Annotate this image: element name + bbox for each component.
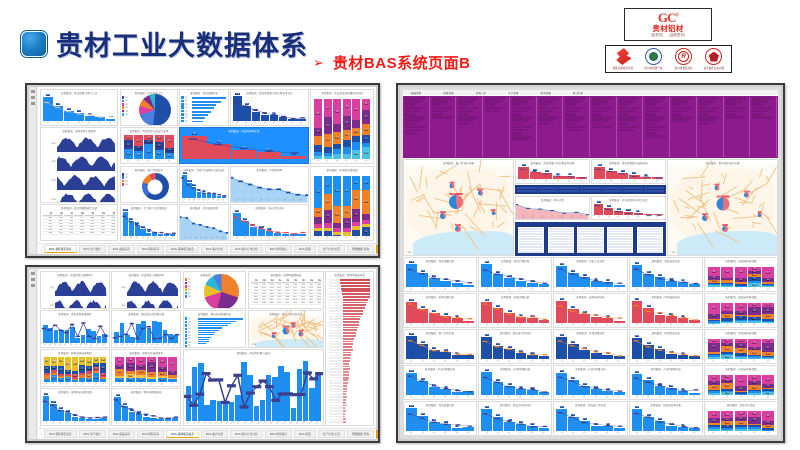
- hbar[interactable]: [192, 111, 211, 113]
- dashboard-tile[interactable]: 贵材集团 - 供应商订单分析372225170104681月2月3月4月5月6月: [478, 329, 552, 364]
- nav-item[interactable]: [405, 132, 415, 135]
- menu-item[interactable]: 采购入库: [476, 91, 486, 95]
- dashboard-tile[interactable]: 贵材集团 - 客户订单分析381246155117681月2月3月4月5月6月: [403, 329, 477, 364]
- stack-segment[interactable]: 269: [44, 357, 50, 365]
- stacked-column[interactable]: 384128131: [708, 267, 720, 287]
- stack-segment[interactable]: 316: [100, 363, 106, 373]
- nav-item[interactable]: [485, 110, 501, 113]
- stacked-column[interactable]: 319150137: [735, 303, 747, 323]
- stack-segment[interactable]: 167: [352, 209, 360, 222]
- red-bar[interactable]: [343, 341, 354, 343]
- dashboard-tile[interactable]: 贵材集团 - 原料成本结构堆积2692372831162322692801194…: [40, 349, 110, 387]
- pie-chart[interactable]: [204, 274, 240, 308]
- stack-segment[interactable]: 187: [362, 176, 370, 190]
- stack-segment[interactable]: 384: [708, 267, 720, 277]
- pie-chart[interactable]: [139, 94, 171, 126]
- dashboard-tile[interactable]: 贵材集团 - 主力客户订单量排名369239164104521月2月3月4月5月…: [120, 204, 178, 241]
- bi-tab[interactable]: BAS-财务指标: [265, 245, 292, 253]
- stacked-column[interactable]: 282118128: [352, 99, 360, 159]
- stack-segment[interactable]: [352, 120, 360, 127]
- red-bar[interactable]: [343, 343, 353, 345]
- nav-item[interactable]: [752, 116, 772, 119]
- red-bar[interactable]: [343, 346, 353, 348]
- map-tile-left[interactable]: 贵材集团 - 客户区域分布图 5.37万1.2万9千1.1万8千4千© 地图: [403, 159, 514, 256]
- dashboard-tile[interactable]: 贵材集团 - 月度销售额与结构分析365246171115701月2月3月4月5…: [591, 159, 665, 184]
- bi-tab[interactable]: 明细数据-查询: [347, 245, 374, 253]
- map-marker[interactable]: 1.1万: [477, 188, 483, 195]
- red-bar[interactable]: [343, 366, 350, 368]
- table-row[interactable]: 9466241910524390446119824334: [43, 232, 115, 235]
- stack-segment[interactable]: 453: [735, 375, 747, 386]
- marker-pie[interactable]: [716, 197, 729, 210]
- map-marker[interactable]: 3千: [757, 211, 762, 217]
- dashboard-tile[interactable]: 贵材集团 - 产能利用率1月2月3月4月5月6月7月8月9月: [230, 166, 308, 203]
- stacked-column[interactable]: 188316142: [100, 357, 106, 382]
- stack-segment[interactable]: 112: [314, 128, 322, 136]
- menu-item[interactable]: 统计分析: [573, 91, 583, 95]
- red-bar[interactable]: [343, 332, 356, 334]
- red-bar[interactable]: [343, 368, 350, 370]
- stacked-column[interactable]: 330134134134: [158, 357, 167, 382]
- bi-tab[interactable]: BAS-成品库存: [108, 430, 135, 438]
- stack-segment[interactable]: 146: [362, 99, 370, 110]
- nav-column[interactable]: [404, 97, 430, 157]
- bi-tab[interactable]: BAS-生产统计: [79, 430, 106, 438]
- dashboard-tile[interactable]: 贵材集团 - 产品结构占比类1类2类3类4类5类6: [120, 89, 178, 126]
- dashboard-tile[interactable]: 贵材集团 - 产品C销量分析378250154102611月2月3月4月5月6月: [553, 365, 627, 400]
- dashboard-tile[interactable]: 贵材集团 - 月度采购金额趋势1月2月3月4月5月6月7月8月9月10月11月1…: [40, 310, 110, 348]
- stack-segment[interactable]: 113: [362, 135, 370, 144]
- dashboard-tile[interactable]: 贵材集团 - 品类结构堆积图38412813144544816116311614…: [704, 257, 778, 292]
- red-bar[interactable]: [341, 288, 370, 290]
- dashboard-tile[interactable]: 贵材集团 - 各品类月度销量堆积分析3851122432201753331672…: [310, 89, 374, 164]
- dashboard-tile[interactable]: 贵材集团 - 渠道结构堆积图43520234216331915013716230…: [704, 293, 778, 328]
- hbar[interactable]: [198, 321, 236, 322]
- nav-item[interactable]: [672, 119, 688, 122]
- stack-segment[interactable]: 205: [324, 194, 332, 209]
- stack-segment[interactable]: 287: [708, 411, 720, 418]
- stack-segment[interactable]: 272: [155, 142, 164, 150]
- stack-segment[interactable]: [352, 142, 360, 150]
- stack-segment[interactable]: 130: [343, 130, 351, 140]
- stack-segment[interactable]: 220: [324, 117, 332, 134]
- nav-column[interactable]: [431, 97, 457, 157]
- marker-pie[interactable]: [440, 213, 446, 219]
- stacked-column[interactable]: 244155194140: [136, 357, 145, 382]
- red-bar[interactable]: [343, 410, 346, 412]
- hbar[interactable]: [192, 97, 226, 99]
- dashboard-tile[interactable]: 贵材集团 - 区域结构堆积图15637016411724015417218419…: [704, 329, 778, 364]
- red-bar[interactable]: [343, 296, 370, 298]
- marker-pie[interactable]: [702, 215, 708, 221]
- red-bar[interactable]: [343, 413, 346, 415]
- sparkline[interactable]: [57, 172, 115, 190]
- bi-tab[interactable]: BAS-销售情况总览: [44, 430, 77, 438]
- stack-segment[interactable]: 330: [158, 357, 167, 367]
- bi-left-rail[interactable]: [29, 269, 37, 439]
- dashboard-tile[interactable]: 贵材集团 - 供应商交货周期分析1月2月3月4月5月6月7月8月9月10月11月…: [111, 310, 181, 348]
- dashboard-tile[interactable]: 贵材集团 - 产品A销量分析36823214197571月2月3月4月5月6月: [403, 365, 477, 400]
- stack-segment[interactable]: 279: [79, 365, 85, 374]
- dashboard-tile[interactable]: 贵材集团 - 月度销量与同比增长率分析36122716787811月2月3月4月…: [515, 159, 589, 184]
- stack-segment[interactable]: [314, 145, 322, 153]
- dashboard-tile[interactable]: 贵材集团 - 月度质量分析384253154111581月2月3月4月5月6月: [403, 401, 477, 436]
- map[interactable]: 2.1万8千5千6千© 地图: [249, 316, 323, 347]
- menu-item[interactable]: 销售管理: [443, 91, 453, 95]
- stack-segment[interactable]: 448: [735, 267, 747, 278]
- stack-segment[interactable]: 319: [735, 303, 747, 311]
- stack-segment[interactable]: 225: [343, 99, 351, 116]
- stacked-column[interactable]: 249157197: [748, 375, 760, 395]
- nav-item[interactable]: [512, 138, 528, 141]
- marker-pie[interactable]: [715, 185, 720, 190]
- stacked-column[interactable]: 448161: [735, 267, 747, 287]
- dashboard-tile[interactable]: 贵材集团 - 月度销量分析37823415694621月2月3月4月5月6月: [403, 257, 477, 292]
- bi-tab-bar[interactable]: ‹BAS-销售情况总览BAS-生产统计BAS-成品库存BAS-原料库存BAS-采…: [38, 428, 376, 439]
- marker-pie[interactable]: [722, 226, 728, 232]
- stacked-column[interactable]: 252152150: [735, 411, 747, 431]
- stack-segment[interactable]: 445: [721, 267, 733, 278]
- stacked-column[interactable]: 243220175: [324, 99, 332, 159]
- bi-tab[interactable]: BAS-质量: [294, 245, 316, 253]
- tab-scroll-left[interactable]: ‹: [41, 432, 42, 436]
- red-bar[interactable]: [343, 421, 346, 423]
- red-bar[interactable]: [343, 349, 353, 351]
- red-bar[interactable]: [343, 335, 356, 337]
- stack-segment[interactable]: 352: [762, 343, 774, 352]
- bi-tab[interactable]: BAS-原料库存: [137, 245, 164, 253]
- red-bar[interactable]: [343, 360, 350, 362]
- hbar[interactable]: [198, 323, 231, 324]
- hbar[interactable]: [192, 104, 216, 106]
- stack-segment[interactable]: 244: [136, 357, 145, 365]
- sparkline[interactable]: [127, 278, 178, 296]
- dashboard-tile[interactable]: 贵材集团 - 区域销量分析36725214792711月2月3月4月5月6月: [553, 329, 627, 364]
- map-marker[interactable]: 9千: [449, 181, 454, 188]
- nav-item[interactable]: [592, 126, 612, 129]
- legend-item[interactable]: 类4: [122, 183, 128, 186]
- legend-item[interactable]: 项9: [185, 344, 191, 347]
- stacked-column[interactable]: 156370: [708, 339, 720, 359]
- stacked-column[interactable]: 422123: [314, 176, 322, 236]
- detail-tables[interactable]: [515, 222, 665, 256]
- stack-segment[interactable]: 361: [134, 135, 143, 146]
- stacked-column[interactable]: 175352154: [762, 339, 774, 359]
- stacked-column[interactable]: 400150140: [762, 411, 774, 431]
- marker-pie[interactable]: [455, 226, 461, 232]
- dashboard-tile[interactable]: 贵材集团 - 月度毛利率走势360236144112531月2月3月4月5月: [179, 127, 308, 164]
- nav-column[interactable]: [564, 97, 590, 157]
- map-marker[interactable]: 1.0万: [702, 213, 708, 221]
- table-column[interactable]: [547, 223, 575, 254]
- dashboard-tile[interactable]: 贵材集团 - 产品B销量分析38022315197851月2月3月4月5月6月: [478, 365, 552, 400]
- red-bar[interactable]: [343, 416, 345, 418]
- sparkline[interactable]: [57, 190, 115, 202]
- sparkline[interactable]: [55, 297, 106, 309]
- nav-item[interactable]: [645, 135, 665, 138]
- marker-pie[interactable]: [449, 183, 454, 188]
- stack-segment[interactable]: 333: [333, 99, 341, 124]
- stacked-column[interactable]: 269280119: [58, 357, 64, 382]
- stacked-column[interactable]: 445: [721, 267, 733, 287]
- dashboard-tile[interactable]: 贵材集团 - 产品D销量分析354247151113621月2月3月4月5月6月: [629, 365, 703, 400]
- stacked-column[interactable]: 154305170: [762, 303, 774, 323]
- stacked-column[interactable]: 361151288: [134, 135, 143, 159]
- hbar[interactable]: [198, 332, 215, 333]
- red-bar[interactable]: [342, 293, 370, 295]
- stack-segment[interactable]: 128: [352, 150, 360, 160]
- stack-segment[interactable]: 193: [362, 110, 370, 125]
- menu-item[interactable]: 财务管理: [541, 91, 551, 95]
- stacked-column[interactable]: 453200: [735, 375, 747, 395]
- bi-tab[interactable]: 明细数据-查询: [347, 430, 374, 438]
- stack-segment[interactable]: 237: [44, 366, 50, 373]
- hbar[interactable]: [198, 327, 221, 328]
- marker-pie[interactable]: [491, 211, 495, 215]
- red-bar[interactable]: [343, 405, 347, 407]
- dashboard-tile[interactable]: 贵材集团 - 月度合格率分析372236144114801月2月3月4月5月6月: [478, 401, 552, 436]
- red-bar[interactable]: [343, 302, 368, 304]
- dashboard-tile[interactable]: 贵材集团 - 采购明细数据表列1列2列3列4列5列6列7列8列917831510…: [248, 271, 324, 309]
- red-bar[interactable]: [343, 396, 347, 398]
- red-bar[interactable]: [343, 388, 347, 390]
- dashboard-tile[interactable]: 贵材集团 - 月度出库分析37422115999841月2月3月4月5月6月: [629, 257, 703, 292]
- dashboard-tile[interactable]: 贵材集团 - 单价走势分析363240142107701月2月3月4月5月6月7…: [230, 204, 308, 241]
- stack-segment[interactable]: 258: [352, 190, 360, 209]
- dashboard-tile[interactable]: 贵材集团 - 区域渠道堆积图42212324520517640722240715…: [310, 166, 374, 241]
- stack-segment[interactable]: [314, 217, 322, 224]
- stacked-column[interactable]: 245279: [79, 357, 85, 382]
- dashboard-tile[interactable]: 贵材集团 - 月度损耗率分析36523717288711月2月3月4月5月6月: [629, 401, 703, 436]
- bi-tab[interactable]: 汇总表: [376, 245, 380, 253]
- stack-segment[interactable]: 274: [126, 363, 135, 371]
- hbar[interactable]: [198, 341, 208, 342]
- nav-column[interactable]: [725, 97, 751, 157]
- dashboard-tile[interactable]: 贵材集团 - 原料库存结构堆积2611232221291882741391232…: [111, 349, 181, 387]
- dashboard-screenshot-top-left[interactable]: 贵材集团 - 月度销量与累计占比376229159121771月2月3月4月5月…: [25, 83, 380, 258]
- stack-segment[interactable]: 407: [343, 176, 351, 207]
- stack-segment[interactable]: [333, 124, 341, 132]
- nav-column[interactable]: [484, 97, 510, 157]
- bi-tab[interactable]: BAS-采购情况总览: [166, 245, 199, 253]
- hbar[interactable]: [198, 334, 213, 335]
- stack-segment[interactable]: 222: [115, 369, 124, 376]
- stack-segment[interactable]: 309: [748, 307, 760, 315]
- stacked-column[interactable]: 161295344: [124, 135, 133, 159]
- nav-item[interactable]: [726, 116, 746, 119]
- stack-segment[interactable]: 435: [708, 303, 720, 314]
- stack-segment[interactable]: 159: [343, 206, 351, 218]
- dashboard-tile[interactable]: 贵材集团 - 月度回款与目标完成率16129534436115128814815…: [120, 127, 178, 164]
- table-column[interactable]: [606, 223, 634, 254]
- stacked-column[interactable]: 208272320: [155, 135, 164, 159]
- marker-pie[interactable]: [272, 334, 276, 338]
- nav-column[interactable]: [591, 97, 617, 157]
- stacked-column[interactable]: 163116140151142: [748, 267, 760, 287]
- stacked-column[interactable]: 407222: [333, 176, 341, 236]
- red-bar[interactable]: [343, 316, 361, 318]
- stack-segment[interactable]: 292: [748, 417, 760, 424]
- dashboard-tile[interactable]: 贵材集团 - 库存周转率与同比对比373247136120811月2月3月4月5…: [591, 196, 665, 221]
- dashboard-tile[interactable]: 贵材集团 - 月度返工率分析37723217191841月2月3月4月5月6月: [553, 401, 627, 436]
- data-table[interactable]: 列1列2列3列4列5列6列7列8列91783151015941720209047…: [249, 277, 323, 308]
- marker-pie[interactable]: [298, 332, 303, 337]
- stack-segment[interactable]: 191: [343, 116, 351, 130]
- bi-tab[interactable]: 生产计划-主页: [318, 430, 345, 438]
- red-bar[interactable]: [343, 382, 349, 384]
- dashboard-tile[interactable]: 贵材集团 - 月度综合指标287195294117152122252152150…: [704, 401, 778, 436]
- red-bar[interactable]: [343, 354, 352, 356]
- bi-tab[interactable]: BAS-质量: [294, 430, 316, 438]
- hbar[interactable]: [198, 325, 228, 326]
- stack-segment[interactable]: 317: [362, 190, 370, 214]
- stack-segment[interactable]: 457: [762, 267, 774, 278]
- hbar[interactable]: [192, 101, 221, 103]
- dashboard-tile[interactable]: 贵材集团 - 产品结构堆积图24215421218813925412345320…: [704, 365, 778, 400]
- sparkline[interactable]: [127, 297, 178, 309]
- red-bar[interactable]: [343, 329, 357, 331]
- map-marker[interactable]: 5.37万: [449, 193, 463, 209]
- stack-segment[interactable]: 407: [333, 176, 341, 207]
- red-bar[interactable]: [343, 399, 347, 401]
- dashboard-screenshot-right[interactable]: 基础资料销售管理采购入库生产管理财务管理统计分析 贵材集团 - 客户区域分布图 …: [396, 83, 785, 443]
- stack-segment[interactable]: 305: [762, 307, 774, 315]
- map-body[interactable]: 5.37万1.2万9千1.1万8千4千© 地图: [404, 165, 513, 255]
- stack-segment[interactable]: 167: [333, 132, 341, 145]
- nav-item[interactable]: [458, 123, 468, 126]
- map-marker[interactable]: 8千: [455, 224, 461, 232]
- legend-item[interactable]: 类6: [122, 113, 128, 116]
- dashboard-tile[interactable]: 贵材集团 - 月度到货量与波动1月2月3月4月5月6月7月8月9月10月11月1…: [183, 349, 324, 426]
- stack-segment[interactable]: 245: [79, 357, 85, 365]
- stack-segment[interactable]: 422: [314, 176, 322, 208]
- stack-segment[interactable]: 232: [51, 375, 57, 382]
- dashboard-tile[interactable]: 贵材集团 - 毛利结构分析374249139116791月2月3月4月5月6月: [629, 293, 703, 328]
- stack-segment[interactable]: 370: [708, 343, 720, 352]
- red-bar[interactable]: [340, 282, 370, 284]
- stack-segment[interactable]: 385: [314, 99, 322, 128]
- stacked-column[interactable]: 245205176: [324, 176, 332, 236]
- dashboard-tile[interactable]: 贵材集团 - 供应商采购额排名项1项2项3项4项5项6项7项8项9: [183, 310, 247, 348]
- nav-column[interactable]: [698, 97, 724, 157]
- stack-segment[interactable]: 123: [314, 208, 322, 217]
- map-marker[interactable]: 4.82万: [716, 195, 729, 210]
- red-bar[interactable]: [343, 310, 363, 312]
- tab-scroll-left[interactable]: ‹: [41, 247, 42, 251]
- sparkline[interactable]: [55, 278, 106, 296]
- bi-tab[interactable]: BAS-客户分析: [201, 245, 228, 253]
- stacked-column[interactable]: 439144: [72, 357, 78, 382]
- stacked-column[interactable]: 162309120: [748, 303, 760, 323]
- bi-tab[interactable]: BAS-成品库存: [108, 245, 135, 253]
- stacked-column[interactable]: 148153499: [144, 135, 153, 159]
- red-bar[interactable]: [343, 307, 365, 309]
- stack-segment[interactable]: [314, 136, 322, 144]
- stack-segment[interactable]: 439: [72, 357, 78, 371]
- stack-segment[interactable]: [343, 140, 351, 147]
- stacked-column[interactable]: 406174220: [165, 135, 174, 159]
- marker-pie[interactable]: [291, 324, 295, 328]
- red-bar[interactable]: [343, 377, 349, 379]
- stacked-column[interactable]: 188274139123: [126, 357, 135, 382]
- nav-column[interactable]: [671, 97, 697, 157]
- summary-strip[interactable]: [515, 185, 665, 194]
- bi-tab[interactable]: BAS-客户分析: [201, 430, 228, 438]
- stack-segment[interactable]: 283: [86, 357, 92, 366]
- stacked-column[interactable]: 187135133274: [93, 357, 99, 382]
- stack-segment[interactable]: 295: [124, 140, 133, 149]
- map-marker[interactable]: 4千: [491, 209, 496, 215]
- stacked-column[interactable]: 435202: [708, 303, 720, 323]
- bi-tab[interactable]: BAS-客户订单分析: [230, 430, 263, 438]
- stacked-column[interactable]: 242154212: [708, 375, 720, 395]
- stacked-column[interactable]: 333167: [333, 99, 341, 159]
- map-marker[interactable]: 6千: [291, 322, 296, 328]
- bi-tab[interactable]: BAS-财务指标: [265, 430, 292, 438]
- nav-column[interactable]: [511, 97, 537, 157]
- purple-nav-panel[interactable]: [403, 96, 778, 158]
- dashboard-tile[interactable]: 贵材集团 - 区域回款分析35623516687691月2月3月4月5月6月: [629, 329, 703, 364]
- stack-segment[interactable]: 135: [362, 124, 370, 134]
- stacked-column[interactable]: 164117240154: [721, 339, 733, 359]
- stacked-column[interactable]: 283116232: [51, 357, 57, 382]
- bi-tab[interactable]: 汇总表: [376, 430, 380, 438]
- stack-segment[interactable]: 499: [144, 144, 153, 159]
- red-bar[interactable]: [341, 285, 370, 287]
- dashboard-tile[interactable]: 贵材集团 - 月度入库分析35822717098771月2月3月4月5月6月: [553, 257, 627, 292]
- table-column[interactable]: [576, 223, 604, 254]
- hbar[interactable]: [198, 339, 209, 340]
- red-bar[interactable]: [343, 391, 348, 393]
- dashboard-tile[interactable]: 贵材集团 - 单价走势1月2月3月4月5月6月7月: [515, 196, 589, 221]
- stack-segment[interactable]: 176: [324, 210, 332, 223]
- dashboard-tile[interactable]: 贵材集团 - 月度销售额与同比增长率对比37923114597861月2月3月4…: [230, 89, 308, 126]
- stack-segment[interactable]: 222: [333, 206, 341, 223]
- hbar[interactable]: [192, 117, 205, 119]
- red-bar[interactable]: [343, 321, 360, 323]
- hbar[interactable]: [192, 121, 204, 123]
- stacked-column[interactable]: 146193135113156: [362, 99, 370, 159]
- nav-column[interactable]: [751, 97, 777, 157]
- stacked-column[interactable]: 385112: [314, 99, 322, 159]
- dashboard-tile[interactable]: 贵材集团 - 供应商区域分布图2.1万8千5千6千© 地图: [248, 310, 324, 348]
- red-bar[interactable]: [343, 313, 363, 315]
- bi-tab[interactable]: BAS-原料库存: [137, 430, 164, 438]
- nav-item[interactable]: [565, 129, 581, 132]
- map-marker[interactable]: 2.1万: [282, 325, 289, 334]
- map-marker[interactable]: 5千: [272, 332, 277, 338]
- map-body[interactable]: 4.82万1.0万8千1.3万7千3千© 地图: [668, 165, 777, 255]
- stack-segment[interactable]: 118: [352, 128, 360, 137]
- hbar[interactable]: [198, 337, 211, 338]
- red-bar-row[interactable]: [329, 421, 370, 424]
- stacked-column[interactable]: 225191130: [343, 99, 351, 159]
- stacked-column[interactable]: 334114200: [748, 339, 760, 359]
- hbar[interactable]: [198, 330, 219, 331]
- dashboard-tile[interactable]: 贵材集团 - 主要产品销量与环比变化35422016887711月2月3月4月5…: [179, 166, 228, 203]
- bi-tab[interactable]: BAS-销售情况总览: [44, 245, 77, 253]
- nav-column[interactable]: [618, 97, 644, 157]
- nav-column[interactable]: [457, 97, 483, 157]
- stack-segment[interactable]: 128: [343, 218, 351, 228]
- nav-item[interactable]: [539, 123, 549, 126]
- hbar[interactable]: [192, 107, 214, 109]
- red-bar[interactable]: [343, 363, 350, 365]
- bi-tab[interactable]: 生产计划-主页: [318, 245, 345, 253]
- stack-segment[interactable]: 269: [58, 357, 64, 365]
- stacked-column[interactable]: 261123222129: [115, 357, 124, 382]
- nav-item[interactable]: [619, 129, 635, 132]
